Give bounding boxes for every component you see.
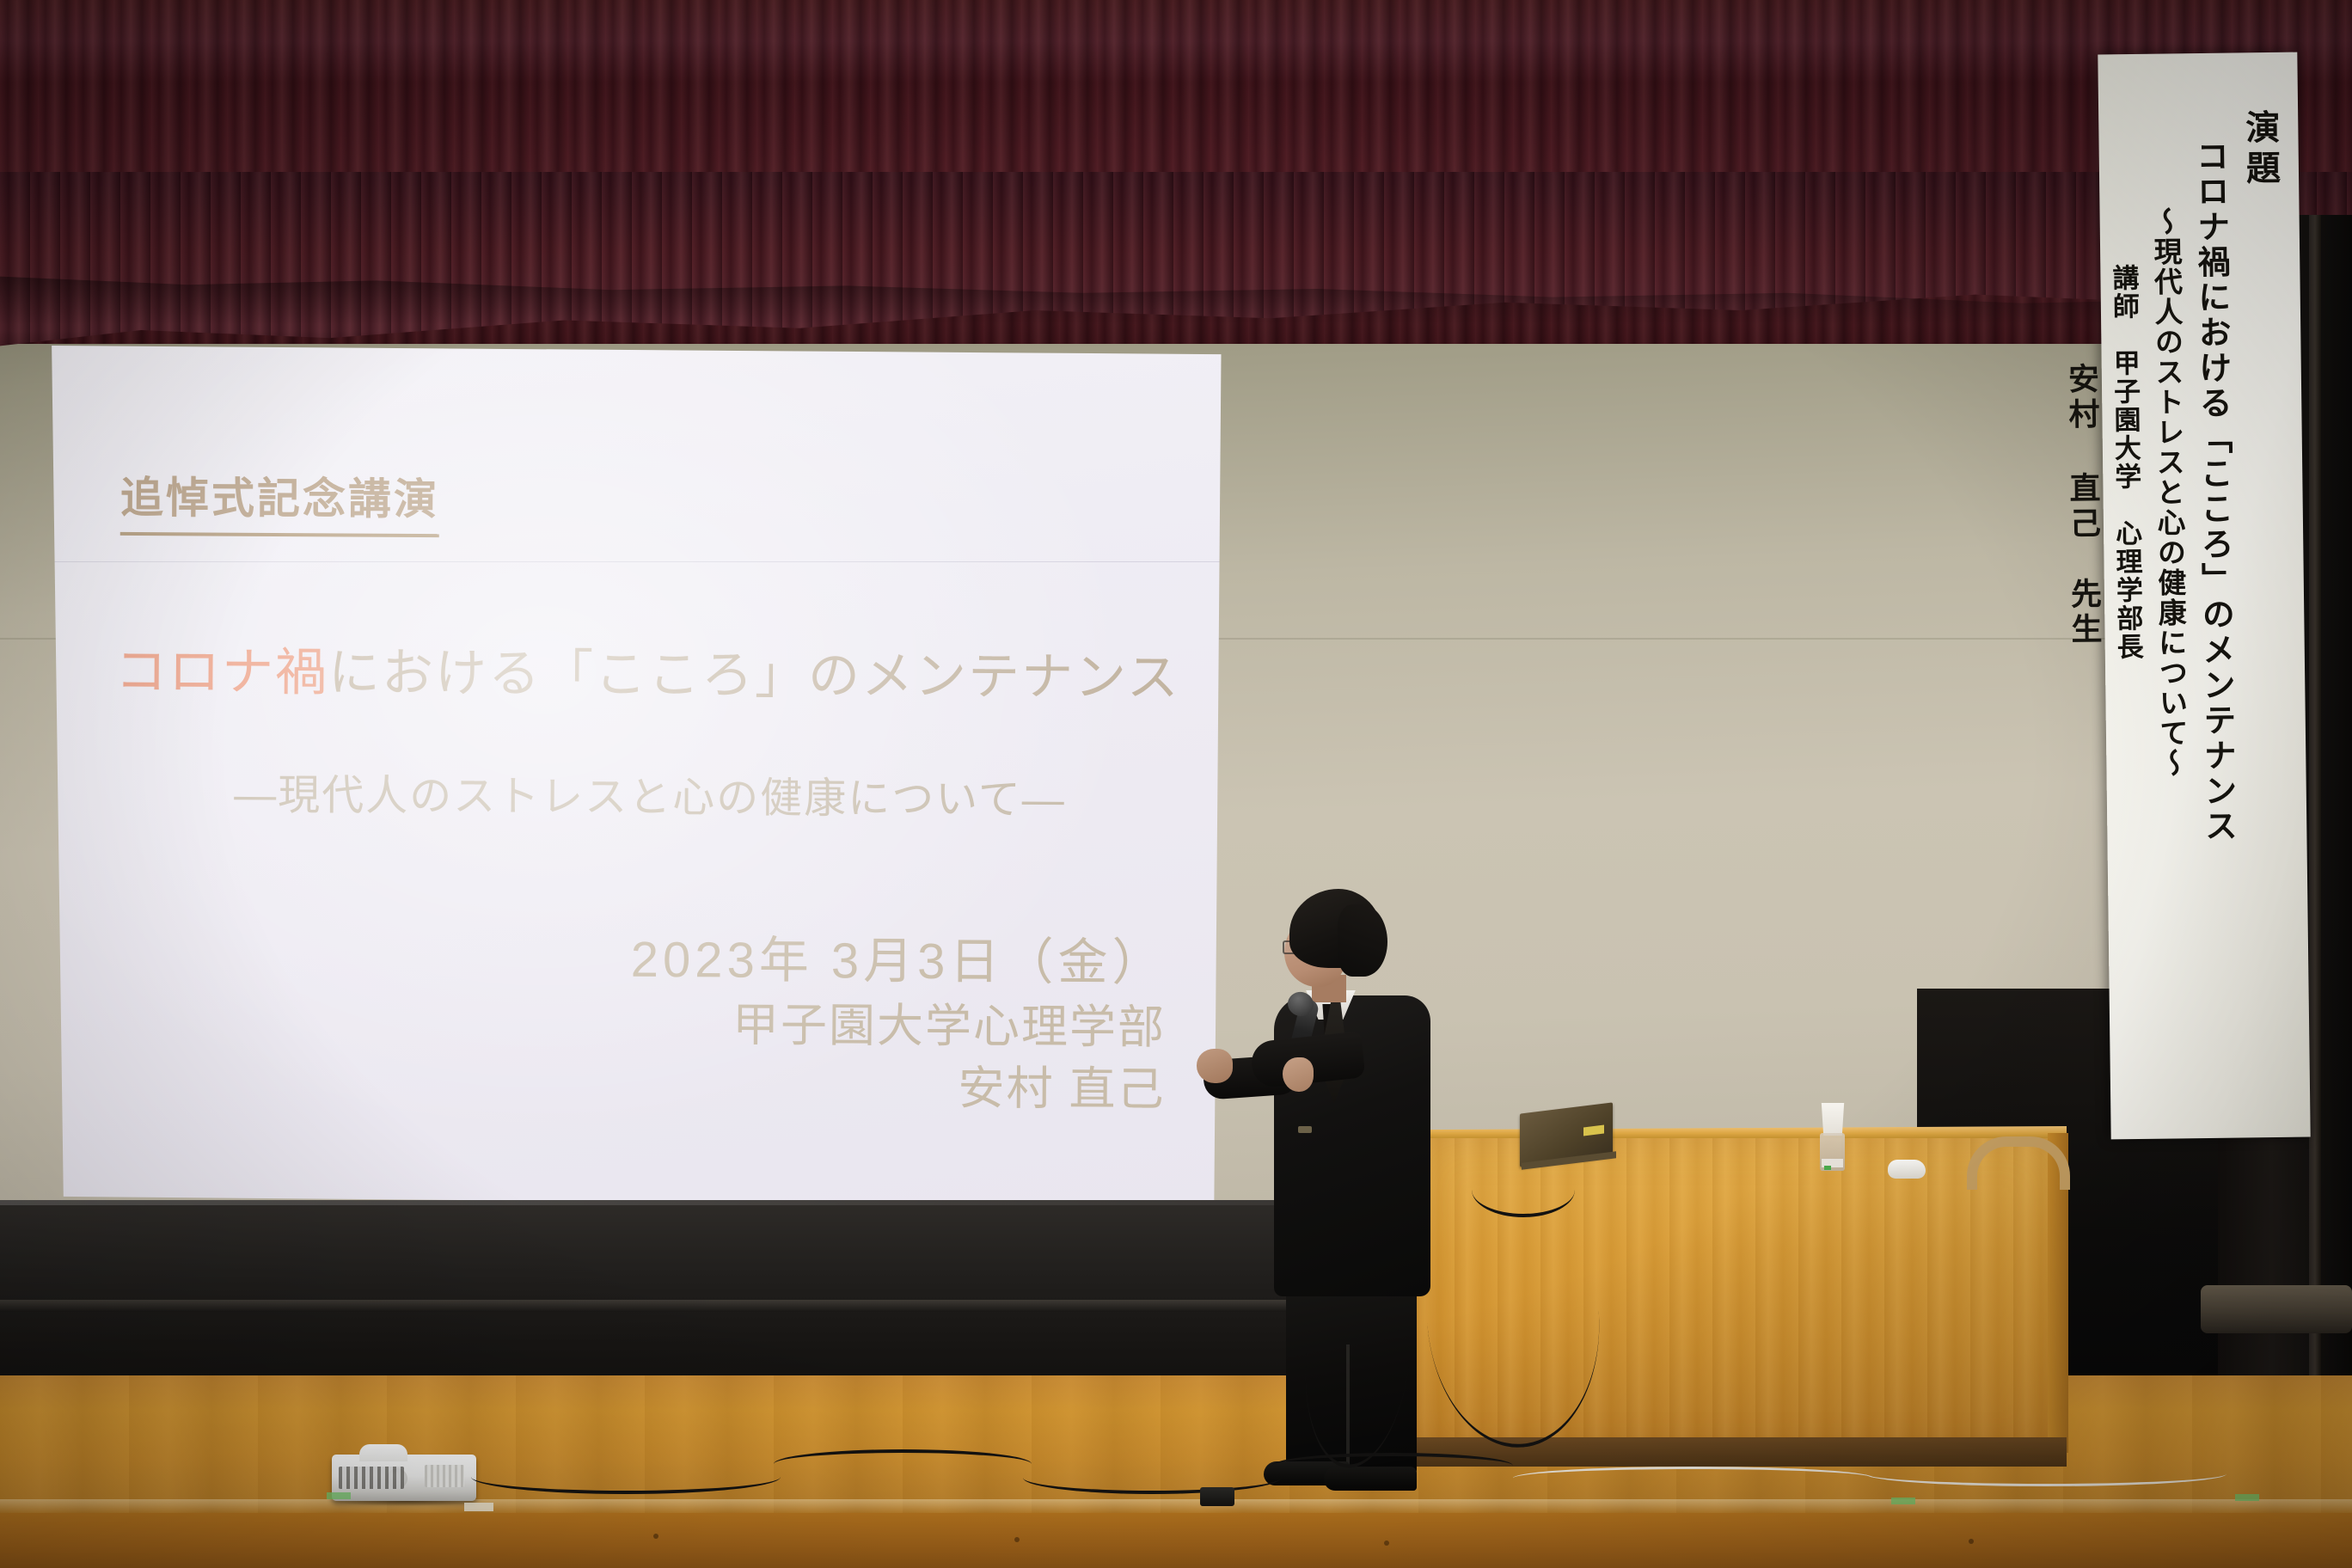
cable-segment — [1272, 1453, 1513, 1479]
floor-tape — [464, 1503, 493, 1511]
slide-kicker: 追悼式記念講演 — [120, 463, 440, 537]
floor-nail — [1014, 1537, 1020, 1542]
presenter-hand-extended — [1197, 1049, 1233, 1083]
projector-ports — [339, 1467, 404, 1489]
water-bottle-cap — [1824, 1166, 1831, 1170]
projection-screen: 追悼式記念講演 コロナ禍における「こころ」のメンテナンス ―現代人のストレスと心… — [48, 342, 1226, 1210]
stage-curtain — [0, 0, 2352, 344]
projector-vent — [425, 1465, 464, 1487]
floor-tape-green — [327, 1492, 351, 1499]
white-cable-segment — [1865, 1461, 2226, 1486]
cable-connector — [1200, 1487, 1234, 1506]
stage-photo-scene: 追悼式記念講演 コロナ禍における「こころ」のメンテナンス ―現代人のストレスと心… — [0, 0, 2352, 1568]
slide-presenter: 安村 直己 — [47, 1052, 1165, 1121]
cable-laptop — [1472, 1162, 1575, 1217]
floor-nail — [1384, 1540, 1389, 1546]
slide-title: コロナ禍における「こころ」のメンテナンス — [115, 629, 1182, 711]
floor-nail — [1969, 1539, 1974, 1544]
slide-date: 2023年 3月3日（金） — [48, 923, 1166, 997]
slide-affiliation: 甲子園大学心理学部 — [48, 989, 1166, 1058]
banner-columns: 演題 コロナ禍における「こころ」のメンテナンス ～現代人のストレスと心の健康につ… — [2098, 52, 2310, 1140]
stage-pillar — [2309, 215, 2321, 1401]
presenter-hand-on-mic — [1283, 1057, 1314, 1092]
banner-label: 演題 — [2234, 109, 2285, 191]
presentation-slide: 追悼式記念講演 コロナ禍における「こころ」のメンテナンス ―現代人のストレスと心… — [48, 342, 1226, 1210]
slide-subtitle: ―現代人のストレスと心の健康について― — [151, 760, 1148, 827]
stage-front-face — [0, 1513, 2352, 1568]
banner-name-line: 安村 直己 先生 — [2059, 362, 2107, 648]
chair-back — [1967, 1136, 2070, 1190]
floor-tape-green — [1891, 1498, 1915, 1504]
projector-top-hump — [359, 1444, 407, 1461]
cable-segment — [1023, 1461, 1281, 1494]
floor-nail — [653, 1534, 658, 1539]
white-cable-segment — [1513, 1467, 1874, 1490]
slide-title-rest: における「こころ」のメンテナンス — [328, 644, 1180, 707]
presenter-hair-back — [1338, 904, 1387, 977]
paper-cup — [1820, 1103, 1846, 1136]
stage-speaker-cylinder — [2201, 1285, 2352, 1333]
banner-role-line: 講師 甲子園大学 心理学部長 — [2104, 264, 2147, 662]
presenter-badge — [1298, 1126, 1312, 1133]
banner-subtitle-line: ～現代人のストレスと心の健康について～ — [2143, 206, 2191, 779]
vertical-banner: 演題 コロナ禍における「こころ」のメンテナンス ～現代人のストレスと心の健康につ… — [2098, 52, 2310, 1140]
cable-segment — [471, 1460, 781, 1494]
banner-title-line: コロナ禍における「こころ」のメンテナンス — [2186, 139, 2242, 845]
white-gloves — [1888, 1160, 1926, 1179]
cable-segment — [774, 1449, 1032, 1479]
slide-meta-block: 2023年 3月3日（金） 甲子園大学心理学部 安村 直己 — [47, 923, 1267, 1122]
floor-tape-green — [2235, 1494, 2259, 1501]
slide-title-highlight: コロナ禍 — [115, 642, 328, 701]
